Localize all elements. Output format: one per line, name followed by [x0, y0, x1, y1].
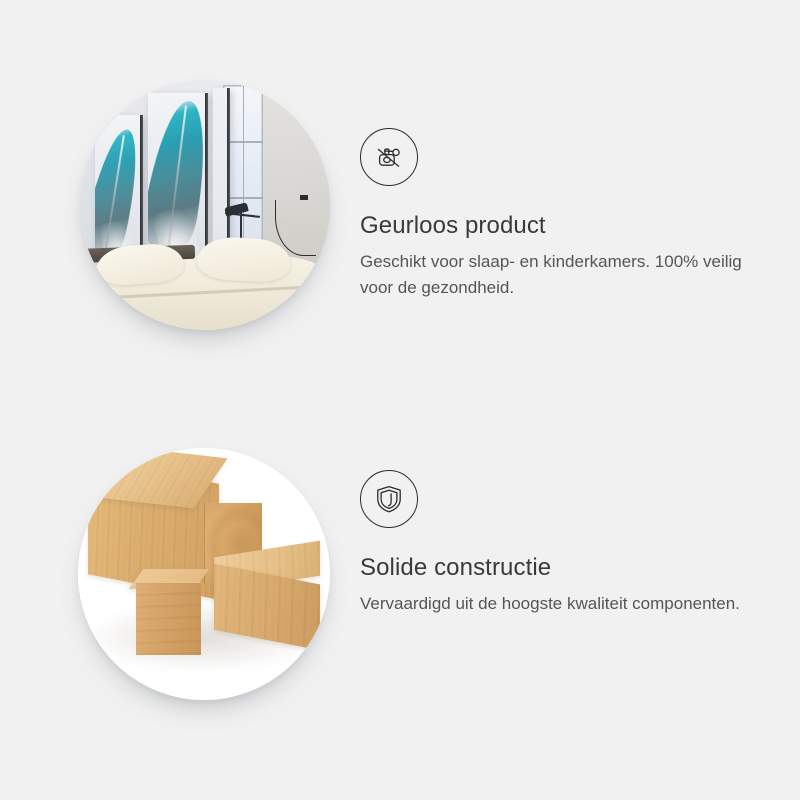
page-title: Geurloos product: [360, 212, 760, 240]
duvet-fold: [106, 286, 303, 299]
photo-inner: [80, 80, 330, 330]
wall-hook: [300, 195, 308, 200]
feature-text-column-solid-construction: Solide constructie Vervaardigd uit de ho…: [360, 470, 760, 617]
wood-beam-front-end: [136, 582, 202, 655]
feature-block-solid-construction: Solide constructie Vervaardigd uit de ho…: [0, 434, 800, 724]
photo-inner: [78, 448, 330, 700]
page-title: Solide constructie: [360, 554, 760, 582]
no-fragrance-icon: [360, 128, 418, 186]
bedroom-scene: [80, 80, 330, 330]
wooden-blocks-photo: [78, 448, 330, 700]
feature-description: Geschikt voor slaap- en kinderkamers. 10…: [360, 249, 750, 301]
bed: [80, 255, 330, 330]
bedroom-feather-canvas-photo: [80, 80, 330, 330]
shield-icon: [360, 470, 418, 528]
window-mullion: [243, 85, 245, 255]
feature-block-odorless: Geurloos product Geschikt voor slaap- en…: [0, 80, 800, 400]
feature-description: Vervaardigd uit de hoogste kwaliteit com…: [360, 591, 750, 617]
product-features-page: Geurloos product Geschikt voor slaap- en…: [0, 0, 800, 800]
feature-text-column-odorless: Geurloos product Geschikt voor slaap- en…: [360, 128, 760, 301]
wood-scene: [78, 448, 330, 700]
